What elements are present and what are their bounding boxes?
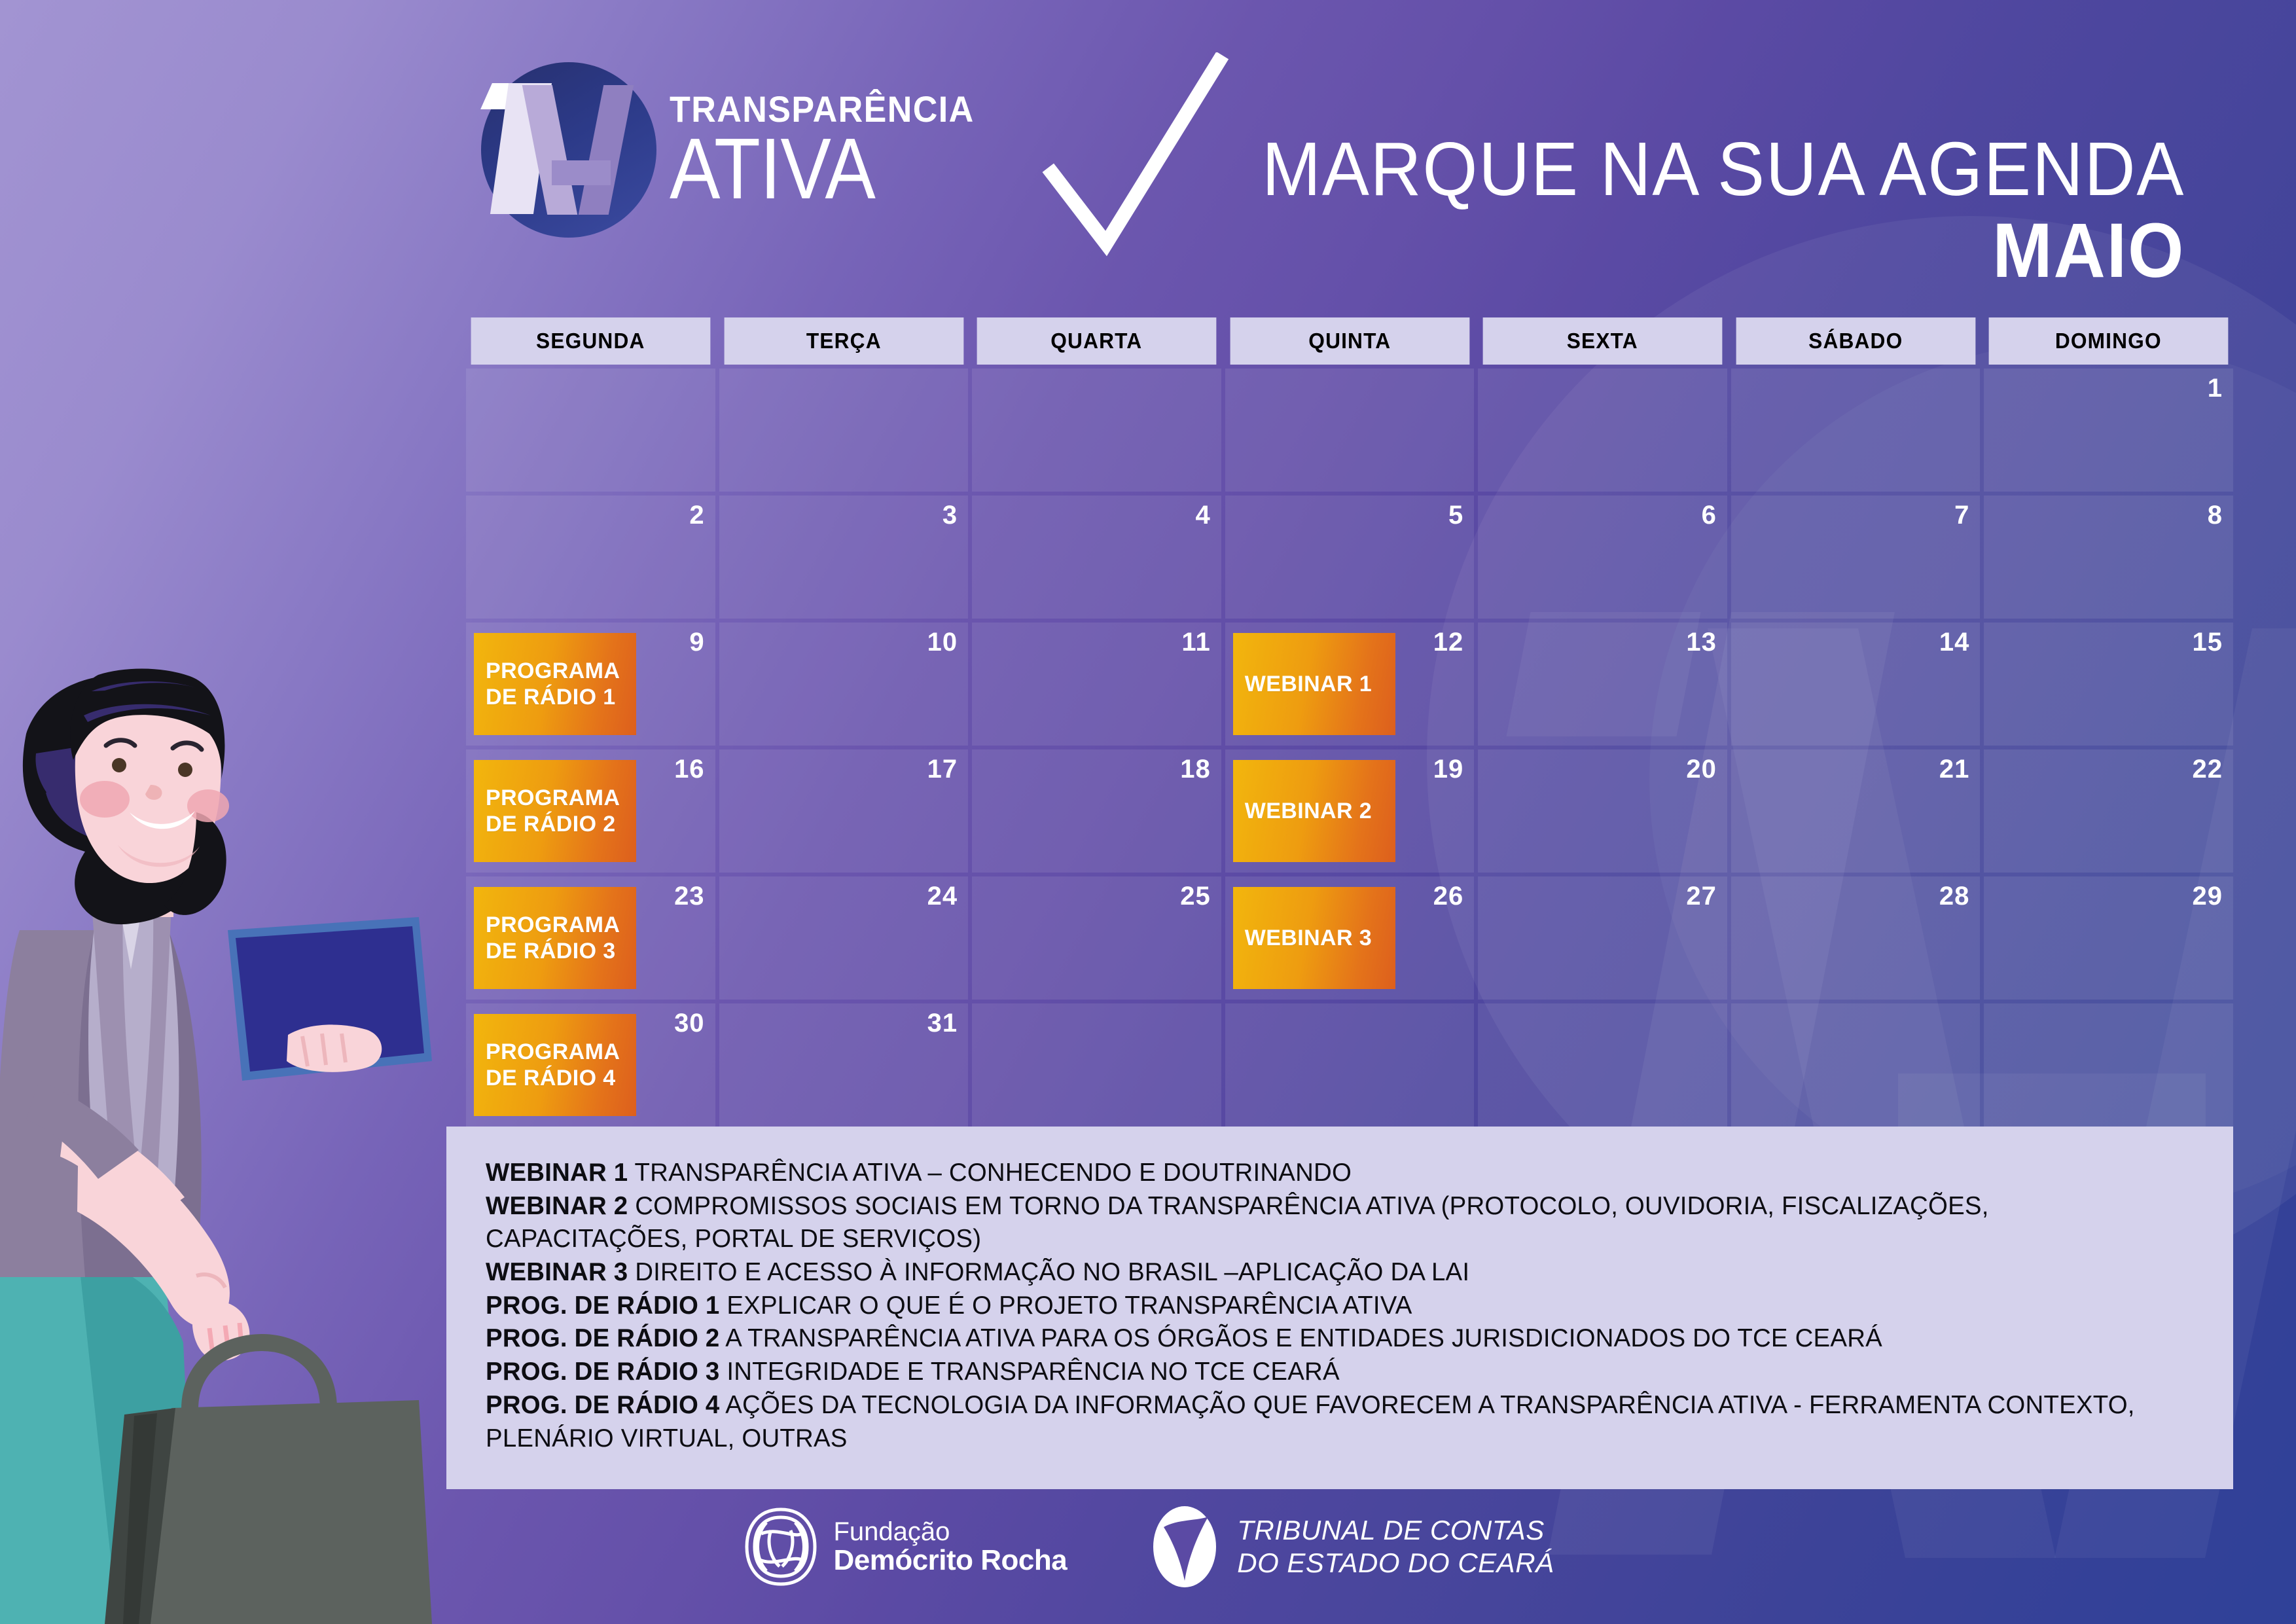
weekday-header-2: TERÇA — [724, 317, 963, 365]
calendar-day-cell[interactable]: 3 — [719, 496, 969, 619]
calendar-day-cell[interactable]: PROGRAMADE RÁDIO 430 — [466, 1003, 715, 1127]
tce-line-1: TRIBUNAL DE CONTAS — [1237, 1514, 1554, 1547]
fdr-line-1: Fundação — [833, 1518, 1067, 1545]
calendar-day-cell[interactable]: 4 — [972, 496, 1221, 619]
day-number: 5 — [1448, 501, 1463, 530]
weekday-header-1: SEGUNDA — [471, 317, 710, 365]
weekday-header-7: DOMINGO — [1989, 317, 2228, 365]
legend-item: PROG. DE RÁDIO 1 EXPLICAR O QUE É O PROJ… — [486, 1290, 2168, 1323]
legend-item-text: TRANSPARÊNCIA ATIVA – CONHECENDO E DOUTR… — [628, 1159, 1352, 1187]
event-badge[interactable]: WEBINAR 1 — [1233, 633, 1395, 735]
event-badge[interactable]: WEBINAR 3 — [1233, 887, 1395, 989]
day-number: 17 — [927, 755, 958, 784]
day-number: 26 — [1433, 882, 1464, 911]
legend-item: WEBINAR 1 TRANSPARÊNCIA ATIVA – CONHECEN… — [486, 1157, 2168, 1190]
calendar-day-cell[interactable]: 6 — [1478, 496, 1727, 619]
weekday-header-3: QUARTA — [977, 317, 1216, 365]
calendar-empty-cell[interactable] — [466, 369, 715, 492]
footer-logos: Fundação Demócrito Rocha TRIBUNAL DE CON… — [0, 1501, 2296, 1593]
calendar-day-cell[interactable]: 29 — [1984, 876, 2233, 1000]
legend-item: WEBINAR 2 COMPROMISSOS SOCIAIS EM TORNO … — [486, 1190, 2168, 1256]
weekday-header-4: QUINTA — [1230, 317, 1469, 365]
tce-seven-icon — [1145, 1501, 1224, 1593]
fundacao-democrito-rocha-logo: Fundação Demócrito Rocha — [742, 1504, 1067, 1589]
day-number: 28 — [1939, 882, 1970, 911]
weekday-header-5: SEXTA — [1483, 317, 1722, 365]
day-number: 1 — [2208, 374, 2223, 403]
day-number: 22 — [2193, 755, 2223, 784]
calendar-day-cell[interactable]: 18 — [972, 749, 1221, 873]
calendar-empty-cell[interactable] — [1731, 1003, 1981, 1127]
fdr-line-2: Demócrito Rocha — [833, 1545, 1067, 1576]
weekday-header-6: SÁBADO — [1736, 317, 1975, 365]
calendar-empty-cell[interactable] — [1478, 369, 1727, 492]
event-badge[interactable]: PROGRAMADE RÁDIO 4 — [474, 1014, 636, 1116]
calendar-day-cell[interactable]: 28 — [1731, 876, 1981, 1000]
calendar-day-cell[interactable]: 1 — [1984, 369, 2233, 492]
calendar-header-row: SEGUNDATERÇAQUARTAQUINTASEXTASÁBADODOMIN… — [466, 317, 2233, 365]
calendar-day-cell[interactable]: 15 — [1984, 623, 2233, 746]
calendar-day-cell[interactable]: 11 — [972, 623, 1221, 746]
calendar-empty-cell[interactable] — [972, 369, 1221, 492]
day-number: 21 — [1939, 755, 1970, 784]
day-number: 25 — [1180, 882, 1211, 911]
calendar-day-cell[interactable]: 22 — [1984, 749, 2233, 873]
day-number: 30 — [674, 1009, 705, 1038]
calendar-day-cell[interactable]: WEBINAR 219 — [1225, 749, 1475, 873]
calendar-day-cell[interactable]: PROGRAMADE RÁDIO 216 — [466, 749, 715, 873]
calendar-empty-cell[interactable] — [1984, 1003, 2233, 1127]
day-number: 29 — [2193, 882, 2223, 911]
day-number: 6 — [1702, 501, 1717, 530]
day-number: 15 — [2193, 628, 2223, 657]
legend-item-text: A TRANSPARÊNCIA ATIVA PARA OS ÓRGÃOS E E… — [719, 1324, 1882, 1352]
calendar-empty-cell[interactable] — [1478, 1003, 1727, 1127]
legend-item-label: PROG. DE RÁDIO 2 — [486, 1324, 719, 1352]
calendar-day-cell[interactable]: 5 — [1225, 496, 1475, 619]
calendar-empty-cell[interactable] — [1731, 369, 1981, 492]
calendar-day-cell[interactable]: 25 — [972, 876, 1221, 1000]
day-number: 27 — [1686, 882, 1717, 911]
headline-line-1: MARQUE NA SUA AGENDA — [1262, 131, 2185, 207]
calendar-day-cell[interactable]: 2 — [466, 496, 715, 619]
page-title: MARQUE NA SUA AGENDA MAIO — [1193, 131, 2185, 292]
day-number: 11 — [1181, 628, 1210, 657]
day-number: 7 — [1954, 501, 1969, 530]
day-number: 16 — [674, 755, 705, 784]
legend-item-label: WEBINAR 1 — [486, 1159, 628, 1187]
calendar-day-cell[interactable]: 14 — [1731, 623, 1981, 746]
legend-item-label: PROG. DE RÁDIO 4 — [486, 1391, 719, 1419]
legend-panel: WEBINAR 1 TRANSPARÊNCIA ATIVA – CONHECEN… — [446, 1127, 2233, 1489]
calendar-day-cell[interactable]: WEBINAR 326 — [1225, 876, 1475, 1000]
calendar-day-cell[interactable]: 24 — [719, 876, 969, 1000]
calendar-day-cell[interactable]: PROGRAMADE RÁDIO 19 — [466, 623, 715, 746]
calendar-day-cell[interactable]: 21 — [1731, 749, 1981, 873]
day-number: 19 — [1433, 755, 1464, 784]
calendar-empty-cell[interactable] — [1225, 1003, 1475, 1127]
calendar-day-cell[interactable]: 13 — [1478, 623, 1727, 746]
calendar-day-cell[interactable]: 17 — [719, 749, 969, 873]
legend-item-label: WEBINAR 3 — [486, 1258, 628, 1286]
event-badge[interactable]: PROGRAMADE RÁDIO 3 — [474, 887, 636, 989]
legend-item-text: AÇÕES DA TECNOLOGIA DA INFORMAÇÃO QUE FA… — [486, 1391, 2135, 1453]
brand-title: ATIVA — [670, 129, 958, 208]
tce-line-2: DO ESTADO DO CEARÁ — [1237, 1547, 1554, 1579]
calendar-day-cell[interactable]: 8 — [1984, 496, 2233, 619]
tce-ceara-logo: TRIBUNAL DE CONTAS DO ESTADO DO CEARÁ — [1145, 1501, 1554, 1593]
woman-illustration — [0, 472, 458, 1624]
calendar-day-cell[interactable]: 27 — [1478, 876, 1727, 1000]
event-badge[interactable]: PROGRAMADE RÁDIO 1 — [474, 633, 636, 735]
day-number: 13 — [1686, 628, 1717, 657]
day-number: 3 — [942, 501, 958, 530]
day-number: 20 — [1686, 755, 1717, 784]
brand-lockup: TRANSPARÊNCIA ATIVA — [481, 62, 997, 238]
legend-item-label: PROG. DE RÁDIO 1 — [486, 1291, 719, 1320]
calendar-day-cell[interactable]: WEBINAR 112 — [1225, 623, 1475, 746]
day-number: 18 — [1180, 755, 1211, 784]
poster-canvas: TRANSPARÊNCIA ATIVA MARQUE NA SUA AGENDA… — [0, 0, 2296, 1624]
legend-item-text: COMPROMISSOS SOCIAIS EM TORNO DA TRANSPA… — [486, 1192, 1989, 1254]
day-number: 12 — [1433, 628, 1464, 657]
legend-item: PROG. DE RÁDIO 2 A TRANSPARÊNCIA ATIVA P… — [486, 1322, 2168, 1356]
legend-item-label: PROG. DE RÁDIO 3 — [486, 1358, 719, 1386]
day-number: 8 — [2208, 501, 2223, 530]
event-badge[interactable]: WEBINAR 2 — [1233, 760, 1395, 862]
calendar-day-cell[interactable]: 10 — [719, 623, 969, 746]
legend-item: PROG. DE RÁDIO 4 AÇÕES DA TECNOLOGIA DA … — [486, 1389, 2168, 1455]
day-number: 9 — [689, 628, 704, 657]
calendar-grid: 12345678PROGRAMADE RÁDIO 191011WEBINAR 1… — [466, 369, 2233, 1127]
legend-item-text: INTEGRIDADE E TRANSPARÊNCIA NO TCE CEARÁ — [719, 1358, 1339, 1386]
day-number: 10 — [927, 628, 958, 657]
1a-logo-icon — [481, 62, 656, 238]
calendar-empty-cell[interactable] — [719, 369, 969, 492]
day-number: 4 — [1195, 501, 1210, 530]
legend-item-label: WEBINAR 2 — [486, 1192, 628, 1220]
calendar: SEGUNDATERÇAQUARTAQUINTASEXTASÁBADODOMIN… — [466, 317, 2233, 1127]
legend-item: WEBINAR 3 DIREITO E ACESSO À INFORMAÇÃO … — [486, 1256, 2168, 1290]
legend-item-text: DIREITO E ACESSO À INFORMAÇÃO NO BRASIL … — [628, 1258, 1469, 1286]
calendar-empty-cell[interactable] — [1225, 369, 1475, 492]
calendar-day-cell[interactable]: 20 — [1478, 749, 1727, 873]
legend-item: PROG. DE RÁDIO 3 INTEGRIDADE E TRANSPARÊ… — [486, 1356, 2168, 1389]
day-number: 24 — [927, 882, 958, 911]
fdr-knot-icon — [742, 1504, 820, 1589]
headline-month: MAIO — [1262, 211, 2185, 292]
event-badge[interactable]: PROGRAMADE RÁDIO 2 — [474, 760, 636, 862]
calendar-day-cell[interactable]: 31 — [719, 1003, 969, 1127]
day-number: 31 — [927, 1009, 958, 1038]
calendar-day-cell[interactable]: 7 — [1731, 496, 1981, 619]
day-number: 2 — [689, 501, 704, 530]
calendar-day-cell[interactable]: PROGRAMADE RÁDIO 323 — [466, 876, 715, 1000]
calendar-empty-cell[interactable] — [972, 1003, 1221, 1127]
legend-item-text: EXPLICAR O QUE É O PROJETO TRANSPARÊNCIA… — [719, 1291, 1412, 1320]
day-number: 14 — [1939, 628, 1970, 657]
day-number: 23 — [674, 882, 705, 911]
